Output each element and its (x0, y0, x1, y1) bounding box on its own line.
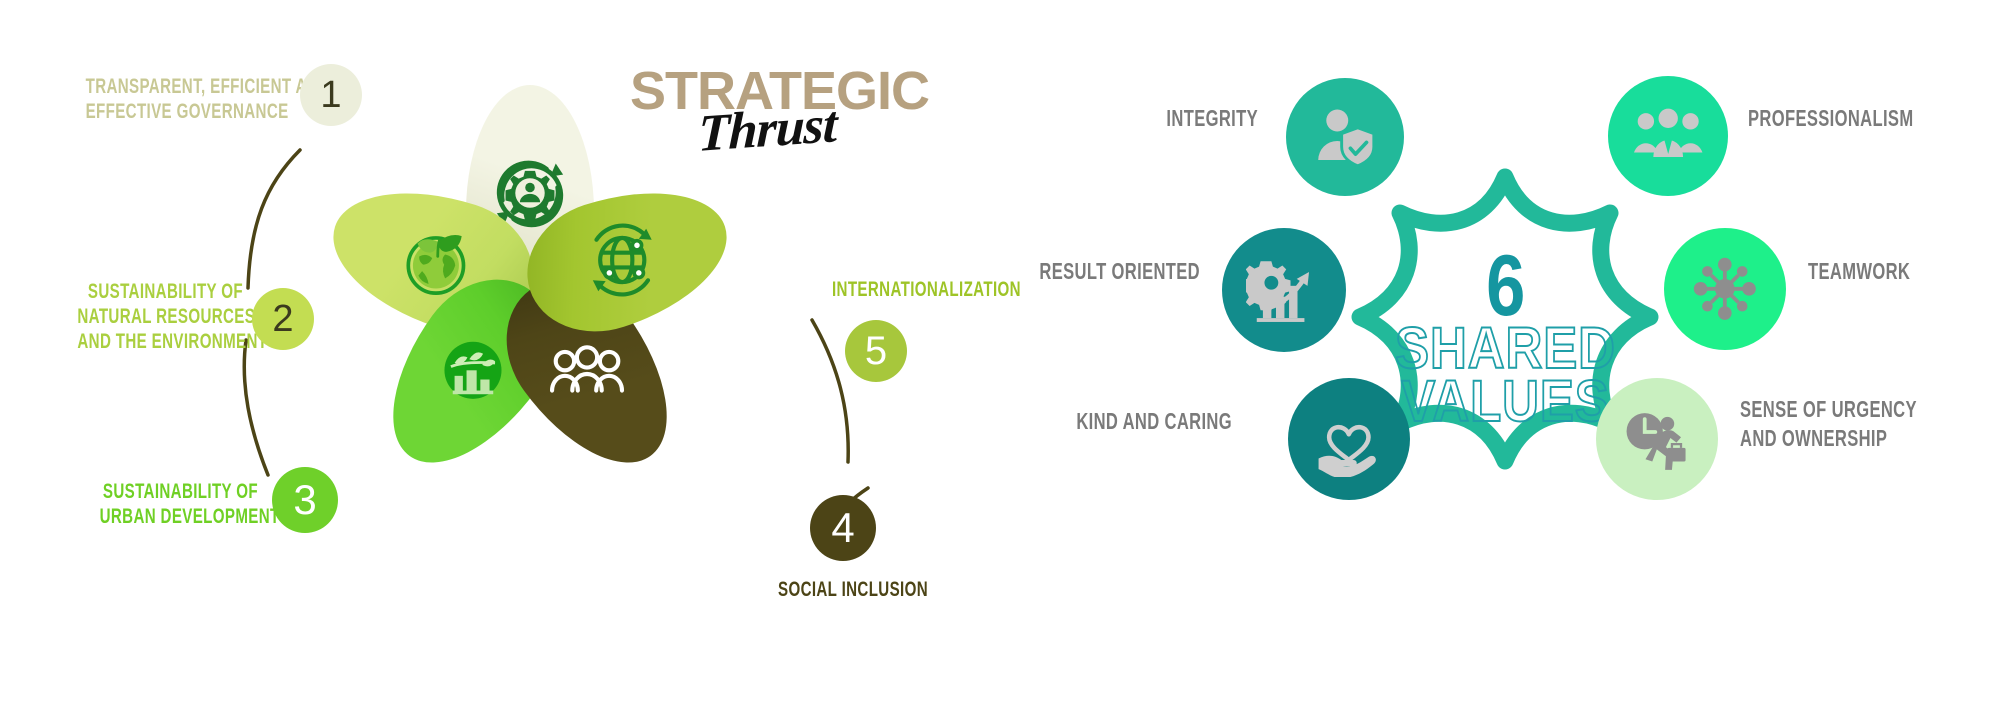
thrust-number-2[interactable]: 2 (252, 288, 314, 350)
thrust-number-4-text: 4 (831, 507, 854, 549)
value-label-integrity-line-1: INTEGRITY (1114, 105, 1258, 133)
value-label-teamwork: TEAMWORK (1808, 258, 2000, 286)
value-label-result-oriented-line-1: RESULT ORIENTED (1027, 258, 1200, 286)
thrust-number-1[interactable]: 1 (300, 64, 362, 126)
thrust-label-1: TRANSPARENT, EFFICIENT AND EFFECTIVE GOV… (10, 75, 280, 125)
value-label-sense-of-urgency-line-2: AND OWNERSHIP (1740, 424, 1942, 453)
value-label-sense-of-urgency: SENSE OF URGENCY AND OWNERSHIP (1740, 395, 2000, 453)
value-label-integrity: INTEGRITY (1058, 105, 1258, 133)
value-label-kind-and-caring-line-1: KIND AND CARING (1045, 408, 1232, 436)
thrust-label-3: SUSTAINABILITY OF URBAN DEVELOPMENT (38, 480, 258, 530)
value-label-teamwork-line-1: TEAMWORK (1808, 258, 1981, 286)
thrust-label-2: SUSTAINABILITY OF NATURAL RESOURCES AND … (13, 280, 243, 354)
value-circle-kind-and-caring[interactable] (1288, 378, 1410, 500)
thrust-label-2-line-3: AND THE ENVIRONMENT (77, 330, 243, 355)
clock-running-person-icon (1619, 401, 1695, 477)
value-circle-result-oriented[interactable] (1222, 228, 1346, 352)
thrust-number-5-text: 5 (865, 331, 887, 371)
thrust-label-2-line-1: SUSTAINABILITY OF (77, 280, 243, 305)
value-circle-teamwork[interactable] (1664, 228, 1786, 350)
strategic-thrust-panel: STRATEGIC Thrust TRANSPARENT, EFFICIENT … (0, 0, 1000, 706)
value-circle-integrity[interactable] (1286, 78, 1404, 196)
title-script: Thrust (697, 95, 837, 164)
infographic-canvas: STRATEGIC Thrust TRANSPARENT, EFFICIENT … (0, 0, 2000, 706)
value-label-result-oriented: RESULT ORIENTED (960, 258, 1200, 286)
team-network-icon (1687, 251, 1763, 327)
thrust-number-2-text: 2 (272, 300, 293, 338)
value-circle-sense-of-urgency[interactable] (1596, 378, 1718, 500)
thrust-number-1-text: 1 (320, 76, 341, 114)
value-label-kind-and-caring: KIND AND CARING (972, 408, 1232, 436)
globe-network-icon (576, 214, 668, 306)
thrust-label-4-line-1: SOCIAL INCLUSION (778, 578, 951, 603)
thrust-number-3-text: 3 (293, 479, 316, 521)
shared-values-panel: 6 SHARED VALUES INTEGRITY (1000, 0, 2000, 706)
strategic-thrust-title: STRATEGIC Thrust (630, 52, 970, 172)
group-of-people-icon (1631, 99, 1705, 173)
value-label-sense-of-urgency-line-1: SENSE OF URGENCY (1740, 395, 1942, 424)
thrust-label-3-line-2: URBAN DEVELOPMENT (100, 505, 258, 530)
person-shield-check-icon (1308, 100, 1381, 173)
value-circle-professionalism[interactable] (1608, 76, 1728, 196)
three-people-icon (541, 322, 633, 414)
gear-growth-chart-icon (1246, 252, 1323, 329)
thrust-number-5[interactable]: 5 (845, 320, 907, 382)
thrust-label-2-line-2: NATURAL RESOURCES (77, 305, 243, 330)
value-label-professionalism-line-1: PROFESSIONALISM (1748, 105, 1950, 133)
value-label-professionalism: PROFESSIONALISM (1748, 105, 2000, 133)
thrust-label-1-line-2: EFFECTIVE GOVERNANCE (86, 100, 280, 125)
hand-heart-icon (1311, 401, 1387, 477)
thrust-number-3[interactable]: 3 (272, 467, 338, 533)
thrust-label-4: SOCIAL INCLUSION (778, 578, 1018, 603)
thrust-label-1-line-1: TRANSPARENT, EFFICIENT AND (86, 75, 280, 100)
thrust-number-4[interactable]: 4 (810, 495, 876, 561)
thrust-label-3-line-1: SUSTAINABILITY OF (100, 480, 258, 505)
